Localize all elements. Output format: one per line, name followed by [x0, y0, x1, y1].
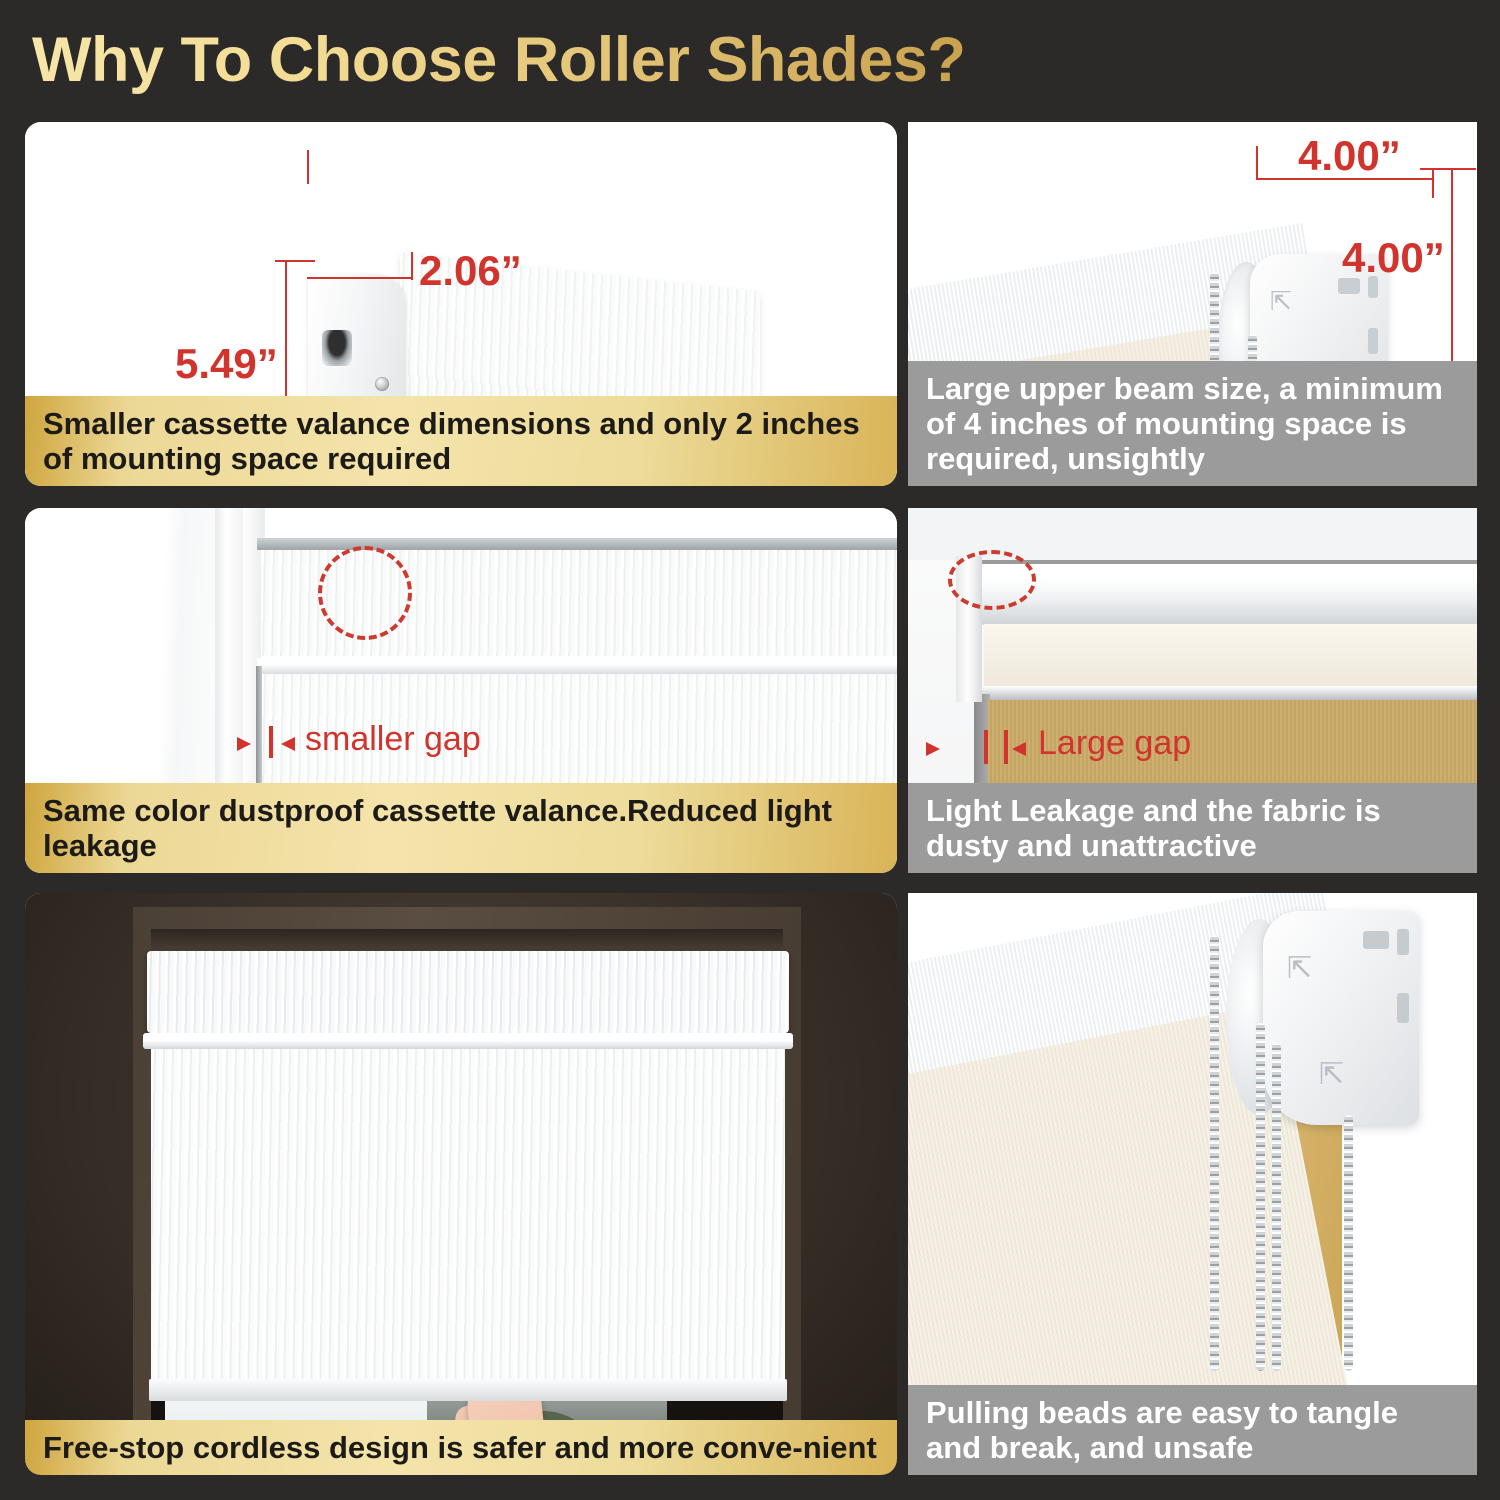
dim-tick	[1432, 168, 1434, 198]
panel-caption: Same color dustproof cassette valance.Re…	[25, 783, 897, 873]
dim-tick	[275, 260, 315, 262]
panel-free-stop-cordless-design: Free-stop cordless design is safer and m…	[25, 893, 897, 1475]
panel-caption: Light Leakage and the fabric is dusty an…	[908, 783, 1477, 873]
roller-shade-fabric	[151, 1049, 785, 1379]
dim-tick	[307, 150, 309, 184]
dim-tick	[1256, 146, 1258, 180]
gap-callout-label: smaller gap	[305, 720, 481, 759]
dimension-label-width: 2.06”	[419, 247, 522, 295]
bracket-slot	[1397, 993, 1409, 1023]
panel-large-upper-beam: ⇱ ⇱ 4.00” 4.00” Large upper beam size, a…	[908, 122, 1477, 486]
dim-tick	[1420, 168, 1476, 170]
panel-dustproof-cassette-valance: smaller gap Same color dustproof cassett…	[25, 508, 897, 873]
bead-chain	[1344, 1115, 1353, 1371]
bead-chain	[1272, 1043, 1281, 1371]
gap-arrow-left-icon	[281, 737, 295, 751]
cassette-valance	[147, 951, 789, 1033]
screw-icon	[375, 377, 389, 391]
gap-marker	[269, 726, 273, 758]
bead-chain	[1210, 935, 1219, 1371]
highlight-circle	[948, 550, 1036, 610]
page-title-text: Why To Choose Roller Shades?	[32, 24, 965, 96]
gap-callout-label: Large gap	[1038, 724, 1191, 763]
gap-arrow-left-icon	[1012, 742, 1026, 756]
panel-pulling-beads-unsafe: ⇱ ⇱ Pulling beads are easy to tangle and…	[908, 893, 1477, 1475]
panel-image-room-window	[25, 893, 897, 1475]
bracket-arrow-icon: ⇱	[1319, 1057, 1344, 1092]
panel-caption: Smaller cassette valance dimensions and …	[25, 396, 897, 486]
valance-lip	[143, 1033, 793, 1049]
bottom-rail	[149, 1379, 787, 1401]
dimension-label-height: 4.00”	[1342, 234, 1445, 282]
highlight-circle	[318, 546, 412, 640]
gap-marker	[984, 730, 988, 764]
infographic-poster: Why To Choose Roller Shades? 2.06” 5.49”…	[0, 0, 1500, 1500]
gap-arrow-right-icon	[926, 742, 940, 756]
bead-chain	[1256, 1023, 1265, 1371]
head-shadow	[151, 929, 783, 953]
panel-caption: Large upper beam size, a minimum of 4 in…	[908, 361, 1477, 486]
valance-rail	[980, 686, 1477, 700]
page-title: Why To Choose Roller Shades?	[32, 16, 1432, 104]
panel-light-leakage-dusty-fabric: Large gap Light Leakage and the fabric i…	[908, 508, 1477, 873]
roller-tube	[978, 564, 1477, 626]
dimension-label-height: 5.49”	[175, 340, 278, 388]
bracket-arrow-icon: ⇱	[1287, 951, 1312, 986]
gap-arrow-right-icon	[237, 737, 251, 751]
gap-marker	[1004, 730, 1008, 764]
panel-caption: Free-stop cordless design is safer and m…	[25, 1420, 897, 1475]
mounting-bracket: ⇱ ⇱	[1263, 911, 1419, 1125]
bracket-slot	[1397, 929, 1409, 955]
bracket-arrow-icon: ⇱	[1270, 286, 1292, 317]
panel-cassette-valance-dimensions: 2.06” 5.49” Smaller cassette valance dim…	[25, 122, 897, 486]
dim-tick	[411, 252, 413, 280]
cream-fabric-roll	[984, 624, 1477, 686]
dim-line-width	[307, 277, 413, 279]
panel-caption: Pulling beads are easy to tangle and bre…	[908, 1385, 1477, 1475]
window-frame-outer	[215, 508, 243, 798]
dim-line-height	[1451, 168, 1453, 368]
valance-lip	[257, 658, 897, 674]
dimension-label-width: 4.00”	[1298, 132, 1401, 180]
bracket-slot	[1363, 931, 1389, 949]
bracket-slot	[1368, 328, 1378, 354]
